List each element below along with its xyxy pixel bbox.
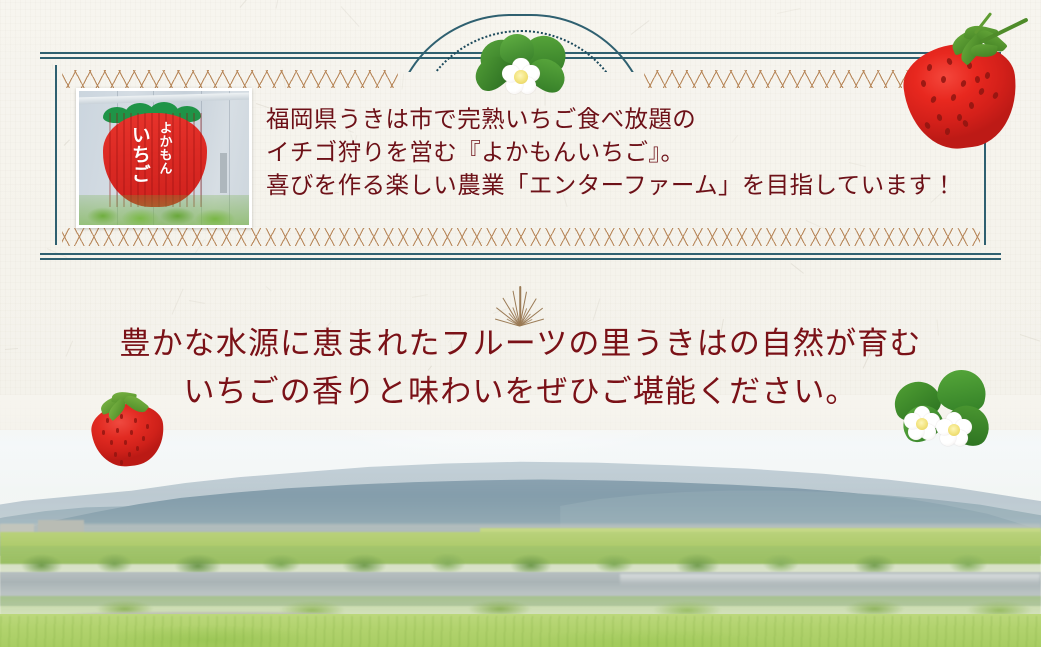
frame-left-line <box>55 65 57 245</box>
banner-root: よかもん いちご 福岡県うきは市で完熟いちご食べ放題の イチゴ狩りを営む『よかも… <box>0 0 1041 647</box>
strawberry-flower-left <box>904 406 940 442</box>
paper-fiber <box>51 64 53 71</box>
intro-line-3: 喜びを作る楽しい農業「エンターファーム」を目指しています！ <box>266 170 986 203</box>
utility-pole <box>220 153 227 193</box>
sign-stripe <box>186 113 188 207</box>
strawberry-icon-left <box>92 388 168 466</box>
arch-blossom <box>502 58 540 96</box>
yokamon-ichigo-sign-photo: よかもん いちご <box>76 88 252 228</box>
intro-line-2: イチゴ狩りを営む『よかもんいちご』。 <box>266 137 986 170</box>
intro-paragraph: 福岡県うきは市で完熟いちご食べ放題の イチゴ狩りを営む『よかもんいちご』。 喜び… <box>266 104 986 203</box>
diamond-chain-divider-bottom <box>62 228 980 246</box>
sign-stripe <box>151 113 153 207</box>
strawberry-icon-top-right <box>905 18 1027 150</box>
photo-grass <box>79 195 249 225</box>
frame-bottom-line-outer <box>40 258 1001 260</box>
sign-stripe <box>109 113 111 207</box>
diamond-chain-divider-top-left <box>62 70 398 88</box>
sunburst-rays-icon <box>440 278 600 326</box>
sign-stripe <box>123 113 125 207</box>
intro-line-1: 福岡県うきは市で完熟いちご食べ放題の <box>266 104 986 137</box>
sign-stripe <box>116 113 118 207</box>
strawberry-leaves-flowers-icon <box>888 366 1006 456</box>
headline-line-1: 豊かな水源に恵まれたフルーツの里うきはの自然が育む <box>0 320 1041 368</box>
sign-text-ichigo: いちご <box>129 125 149 184</box>
sign-stripe <box>179 113 181 207</box>
sign-stripe <box>193 113 195 207</box>
strawberry-blossom-icon <box>470 32 572 94</box>
sign-stripe <box>200 113 202 207</box>
strawberry-flower-right <box>936 412 972 448</box>
frame-bottom-line-inner <box>40 253 1001 255</box>
sign-text-yokamon: よかもん <box>157 121 171 175</box>
sign-stripe <box>172 113 174 207</box>
flower-center <box>514 70 528 84</box>
